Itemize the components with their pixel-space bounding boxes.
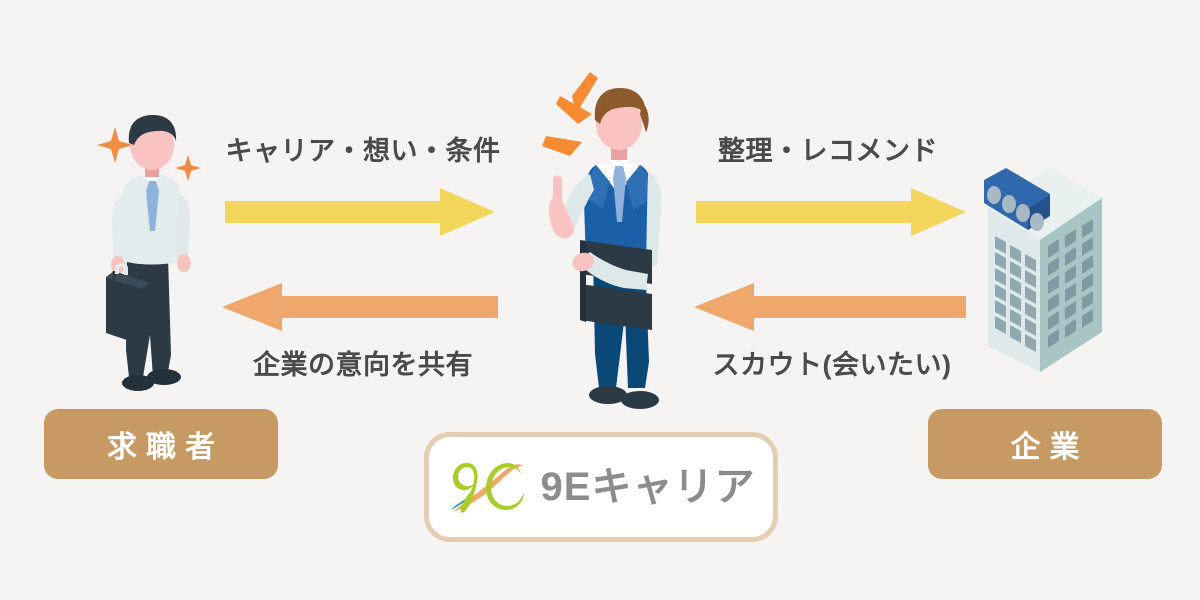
burst-lines-icon (542, 72, 598, 156)
flow-label-agent-to-company: 整理・レコメンド (688, 138, 968, 165)
flow-label-agent-to-seeker: 企業の意向を共有 (208, 352, 518, 379)
flow-label-seeker-to-agent: キャリア・想い・条件 (208, 138, 518, 165)
job-seeker-illustration (70, 105, 220, 405)
career-advisor-illustration (520, 62, 690, 422)
brand-logo-card: 9Eキャリア (424, 432, 778, 542)
office-building-illustration (962, 150, 1107, 400)
flow-arrow-agent-to-seeker (222, 283, 498, 331)
flow-label-company-to-agent: スカウト(会いたい) (682, 352, 982, 379)
actor-label-seeker-text: 求職者 (98, 422, 224, 466)
diagram-canvas: 求職者 キャリア・想い・条件 企業の意向を共有 (0, 0, 1200, 600)
actor-label-seeker: 求職者 (44, 409, 278, 479)
flow-arrow-seeker-to-agent (225, 188, 495, 236)
actor-label-company-text: 企業 (1002, 422, 1089, 466)
flow-arrow-agent-to-company (696, 188, 966, 236)
flow-arrow-company-to-agent (694, 283, 966, 331)
actor-label-company: 企業 (928, 409, 1162, 479)
brand-name: 9Eキャリア (541, 467, 756, 507)
brand-logo-mark-icon (447, 456, 525, 518)
